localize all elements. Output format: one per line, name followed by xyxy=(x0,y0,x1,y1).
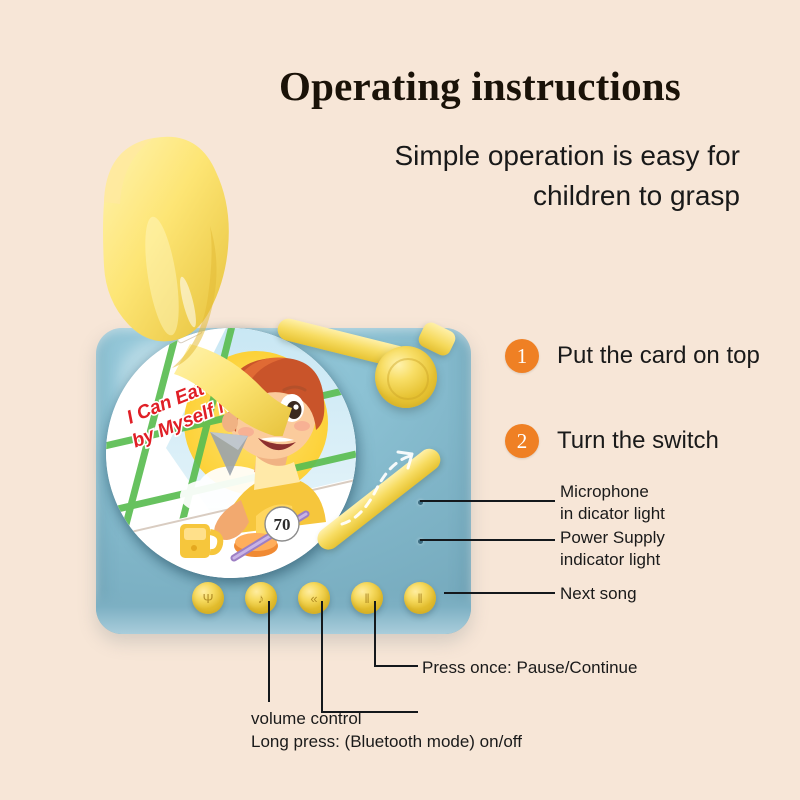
leader-line-microphone xyxy=(420,500,555,502)
subtitle-line-1: Simple operation is easy for xyxy=(280,136,740,176)
previous-icon: « xyxy=(298,582,330,614)
control-button-previous[interactable]: « xyxy=(298,582,330,614)
step-label-1: Put the card on top xyxy=(557,342,760,370)
callout-label-power-supply: Power Supply indicator light xyxy=(560,527,665,571)
leader-line-next-song xyxy=(444,592,555,594)
play-pause-icon: ‖ xyxy=(351,582,383,614)
page-subtitle: Simple operation is easy for children to… xyxy=(280,136,740,216)
callout-label-next-song: Next song xyxy=(560,583,637,605)
rotary-switch-knob[interactable] xyxy=(375,346,437,408)
microphone-icon: Ψ xyxy=(192,582,224,614)
leader-line-power xyxy=(420,539,555,541)
callout-label-microphone: Microphone in dicator light xyxy=(560,481,665,525)
leader-line-pause-horizontal xyxy=(374,665,418,667)
leader-line-previous-vertical xyxy=(321,601,323,712)
step-item-2: 2 Turn the switch xyxy=(505,424,719,458)
leader-line-pause-vertical xyxy=(374,601,376,666)
step-number-badge-2: 2 xyxy=(505,424,539,458)
gramophone-horn xyxy=(12,106,342,436)
control-button-volume[interactable]: ♪ xyxy=(245,582,277,614)
device-illustration: 4 70 I Can Eat by Myself Now xyxy=(82,306,482,636)
control-button-microphone[interactable]: Ψ xyxy=(192,582,224,614)
infographic-canvas: Operating instructions Simple operation … xyxy=(0,0,800,800)
card-track-number: 70 xyxy=(274,515,291,534)
step-label-2: Turn the switch xyxy=(557,427,719,455)
swipe-gesture-arc xyxy=(340,432,450,532)
step-number-badge-1: 1 xyxy=(505,339,539,373)
next-icon: ‖ xyxy=(404,582,436,614)
callout-label-pause-continue: Press once: Pause/Continue xyxy=(422,657,637,680)
page-title: Operating instructions xyxy=(0,62,800,110)
subtitle-line-2: children to grasp xyxy=(280,176,740,216)
control-button-play-pause[interactable]: ‖ xyxy=(351,582,383,614)
volume-icon: ♪ xyxy=(245,582,277,614)
control-button-next[interactable]: ‖ xyxy=(404,582,436,614)
callout-label-volume-control: volume control Long press: (Bluetooth mo… xyxy=(251,708,522,754)
leader-line-volume-vertical xyxy=(268,601,270,702)
step-item-1: 1 Put the card on top xyxy=(505,339,760,373)
